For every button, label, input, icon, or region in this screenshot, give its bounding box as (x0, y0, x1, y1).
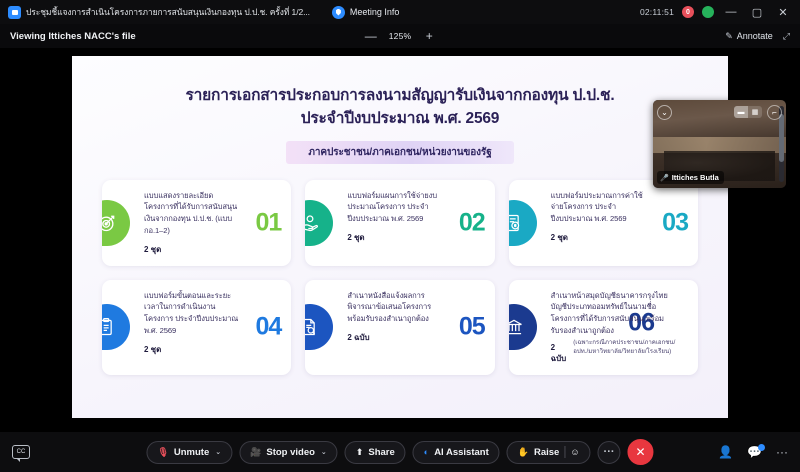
video-panel-controls: ⌄ ▬ ▦ ⌐ (657, 104, 782, 120)
zoom-out-button[interactable]: — (365, 30, 377, 42)
more-options-icon[interactable]: ··· (776, 445, 788, 459)
participant-name-badge: 🎤 Ittiches Butla (657, 171, 724, 184)
expand-icon[interactable]: ⤢ (783, 31, 790, 42)
speaker-view-icon[interactable]: ▬ (734, 106, 748, 118)
more-options-icon: ··· (604, 446, 615, 458)
document-card-06-text: สำเนาหน้าสมุดบัญชีธนาคารกรุงไทย บัญชีประ… (551, 290, 680, 337)
mic-icon: 🎤 (660, 174, 669, 182)
document-card-06: สำเนาหน้าสมุดบัญชีธนาคารกรุงไทย บัญชีประ… (509, 280, 698, 375)
video-icon: 🎥 (250, 447, 261, 458)
chevron-down-icon[interactable]: ⌄ (321, 448, 327, 456)
reactions-icon[interactable]: ☺ (570, 447, 579, 457)
document-card-05-qty: 2 ฉบับ (347, 331, 442, 344)
scrollbar-thumb[interactable] (779, 114, 784, 162)
document-card-04-body: แบบฟอร์มขั้นตอนและระยะเวลาในการดำเนินงาน… (144, 290, 277, 356)
chevron-down-icon[interactable]: ⌄ (657, 105, 672, 120)
meeting-tab-title: ประชุมชี้แจงการสำเนินโครงการภายการสนับสน… (26, 5, 310, 19)
meeting-controls-bar: CC 🎙 Unmute ⌄ 🎥 Stop video ⌄ ⬆ Share ◐ A… (0, 432, 800, 472)
sharing-toolbar: Viewing Ittiches NACC's file — 125% + ✎ … (0, 24, 800, 48)
document-card-02-body: แบบฟอร์มแผนการใช้จ่ายงบประมาณโครงการ ประ… (347, 190, 480, 244)
meeting-tab[interactable]: ประชุมชี้แจงการสำเนินโครงการภายการสนับสน… (8, 5, 310, 19)
document-card-06-note: (เฉพาะกรณีภาคประชาชน/ภาคเอกชน/อปท./มหาวิ… (573, 338, 680, 356)
unmute-label: Unmute (174, 447, 209, 458)
meeting-info-label: Meeting Info (350, 7, 400, 17)
zoom-controls: — 125% + (365, 30, 436, 42)
gallery-view-icon[interactable]: ▦ (748, 106, 762, 118)
closed-captions-icon[interactable]: CC (12, 445, 30, 459)
shield-icon (332, 6, 345, 19)
close-button[interactable]: ✕ (774, 3, 792, 21)
share-button[interactable]: ⬆ Share (345, 441, 406, 464)
document-card-05-body: สำเนาหนังสือแจ้งผลการพิจารณาข้อเสนอโครงก… (347, 290, 480, 344)
leave-meeting-button[interactable]: ✕ (628, 439, 654, 465)
document-card-03-text: แบบฟอร์มประมาณการค่าใช้จ่ายโครงการ ประจำ… (551, 190, 646, 225)
participants-icon[interactable]: 👤 (718, 445, 733, 459)
minimize-button[interactable]: — (722, 3, 740, 21)
ai-assistant-label: AI Assistant (434, 447, 489, 458)
budget-doc-icon (509, 200, 537, 246)
document-card-01-qty: 2 ชุด (144, 243, 239, 256)
document-search-icon (305, 304, 333, 350)
target-icon (102, 200, 130, 246)
share-label: Share (368, 447, 394, 458)
video-panel-view-controls: ▬ ▦ ⌐ (734, 105, 782, 120)
bank-icon (509, 304, 537, 350)
network-indicator[interactable] (702, 6, 714, 18)
share-screen-icon: ⬆ (356, 447, 364, 458)
document-card-02: แบบฟอร์มแผนการใช้จ่ายงบประมาณโครงการ ประ… (305, 180, 494, 266)
document-card-04: แบบฟอร์มขั้นตอนและระยะเวลาในการดำเนินงาน… (102, 280, 291, 375)
meeting-info-button[interactable]: Meeting Info (332, 6, 400, 19)
maximize-button[interactable]: ▢ (748, 3, 766, 21)
annotate-button[interactable]: ✎ Annotate (725, 31, 773, 42)
chevron-down-icon[interactable]: ⌄ (215, 448, 221, 456)
raise-label: Raise (534, 447, 559, 458)
slide-title-line2: ประจำปีงบประมาณ พ.ศ. 2569 (72, 107, 728, 130)
stop-video-button[interactable]: 🎥 Stop video ⌄ (239, 441, 338, 464)
document-card-02-text: แบบฟอร์มแผนการใช้จ่ายงบประมาณโครงการ ประ… (347, 190, 442, 225)
document-card-04-text: แบบฟอร์มขั้นตอนและระยะเวลาในการดำเนินงาน… (144, 290, 239, 337)
document-card-03: แบบฟอร์มประมาณการค่าใช้จ่ายโครงการ ประจำ… (509, 180, 698, 266)
document-card-06-body: สำเนาหน้าสมุดบัญชีธนาคารกรุงไทย บัญชีประ… (551, 290, 684, 365)
meeting-controls-group: 🎙 Unmute ⌄ 🎥 Stop video ⌄ ⬆ Share ◐ AI A… (146, 439, 653, 465)
expand-icon[interactable]: ⌐ (767, 105, 782, 120)
document-card-06-qty-row: 2 ฉบับ (เฉพาะกรณีภาคประชาชน/ภาคเอกชน/อปท… (551, 337, 680, 365)
close-icon: ✕ (636, 445, 646, 459)
viewing-file-label: Viewing Ittiches NACC's file (10, 31, 136, 42)
video-thumbnail-panel[interactable]: ⌄ ▬ ▦ ⌐ 🎤 Ittiches Butla (653, 100, 786, 188)
meeting-timer: 02:11:51 (640, 7, 674, 17)
raise-hand-icon: ✋ (518, 447, 529, 458)
document-card-05-text: สำเนาหนังสือแจ้งผลการพิจารณาข้อเสนอโครงก… (347, 290, 442, 325)
document-card-04-qty: 2 ชุด (144, 343, 239, 356)
more-controls-button[interactable]: ··· (598, 441, 621, 464)
document-card-03-qty: 2 ชุด (551, 231, 646, 244)
slide-title: รายการเอกสารประกอบการลงนามสัญญารับเงินจา… (72, 56, 728, 131)
ai-assistant-icon: ◐ (424, 447, 429, 457)
document-card-02-qty: 2 ชุด (347, 231, 442, 244)
mic-muted-icon: 🎙 (157, 447, 168, 458)
unmute-button[interactable]: 🎙 Unmute ⌄ (146, 441, 232, 464)
zoom-meeting-window: ประชุมชี้แจงการสำเนินโครงการภายการสนับสน… (0, 0, 800, 472)
slide-title-line1: รายการเอกสารประกอบการลงนามสัญญารับเงินจา… (72, 84, 728, 107)
recording-indicator[interactable]: 0 (682, 6, 694, 18)
document-cards-grid: แบบแสดงรายละเอียดโครงการที่ได้รับการสนับ… (102, 180, 698, 375)
slide-subtitle-badge: ภาคประชาชน/ภาคเอกชน/หน่วยงานของรัฐ (286, 141, 513, 164)
hand-coin-icon (305, 200, 333, 246)
zoom-level-value: 125% (389, 31, 412, 41)
document-card-06-qty: 2 ฉบับ (551, 343, 567, 365)
meeting-controls-right: 👤 💬 ··· (718, 445, 788, 459)
sharing-toolbar-right: ✎ Annotate ⤢ (725, 31, 790, 42)
window-controls: 02:11:51 0 — ▢ ✕ (640, 3, 792, 21)
clipboard-icon (102, 304, 130, 350)
zoom-logo-icon (8, 6, 21, 19)
document-card-01: แบบแสดงรายละเอียดโครงการที่ได้รับการสนับ… (102, 180, 291, 266)
ai-assistant-button[interactable]: ◐ AI Assistant (413, 441, 500, 464)
document-card-05: สำเนาหนังสือแจ้งผลการพิจารณาข้อเสนอโครงก… (305, 280, 494, 375)
pencil-icon: ✎ (725, 31, 733, 42)
slide-subtitle-wrap: ภาคประชาชน/ภาคเอกชน/หน่วยงานของรัฐ (72, 141, 728, 164)
presentation-slide: รายการเอกสารประกอบการลงนามสัญญารับเงินจา… (72, 56, 728, 418)
document-card-01-body: แบบแสดงรายละเอียดโครงการที่ได้รับการสนับ… (144, 190, 277, 256)
document-card-03-body: แบบฟอร์มประมาณการค่าใช้จ่ายโครงการ ประจำ… (551, 190, 684, 244)
title-bar: ประชุมชี้แจงการสำเนินโครงการภายการสนับสน… (0, 0, 800, 24)
raise-hand-button[interactable]: ✋ Raise ☺ (507, 441, 591, 464)
shared-content-stage: รายการเอกสารประกอบการลงนามสัญญารับเงินจา… (0, 48, 800, 433)
zoom-in-button[interactable]: + (423, 30, 435, 42)
view-mode-toggle[interactable]: ▬ ▦ (734, 106, 762, 118)
divider (564, 446, 565, 458)
chat-unread-badge (758, 444, 765, 451)
annotate-label: Annotate (737, 31, 773, 41)
chat-icon[interactable]: 💬 (747, 445, 762, 459)
stop-video-label: Stop video (266, 447, 315, 458)
document-card-01-text: แบบแสดงรายละเอียดโครงการที่ได้รับการสนับ… (144, 190, 239, 237)
participant-name: Ittiches Butla (672, 173, 719, 182)
